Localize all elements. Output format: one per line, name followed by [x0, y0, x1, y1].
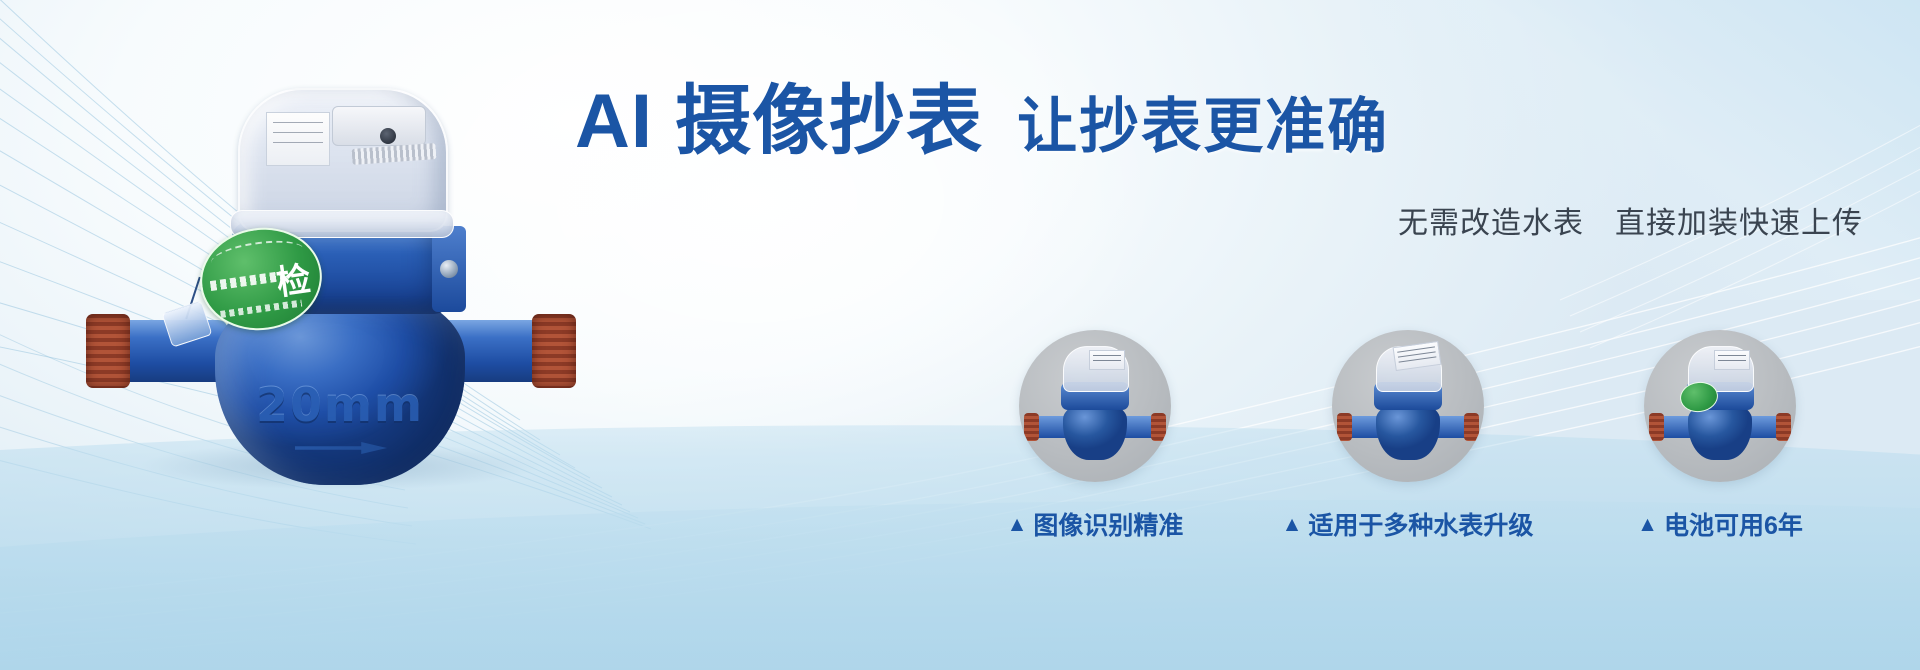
- triangle-marker-icon: ▲: [1637, 514, 1658, 535]
- feature-caption-text: 电池可用6年: [1664, 506, 1803, 542]
- triangle-marker-icon: ▲: [1282, 514, 1303, 535]
- subcopy: 无需改造水表 直接加装快速上传: [575, 198, 1885, 242]
- meter-thread-right: [532, 314, 576, 388]
- meter-size-emboss: 20mm: [230, 370, 450, 440]
- feature-caption-text: 图像识别精准: [1033, 506, 1183, 542]
- feature-item: ▲ 电池可用6年: [1580, 330, 1860, 542]
- feature-caption: ▲ 适用于多种水表升级: [1282, 506, 1534, 542]
- headline-main: AI 摄像抄表: [575, 84, 983, 160]
- copy-block: AI 摄像抄表 让抄表更准确 无需改造水表 直接加装快速上传: [575, 84, 1885, 242]
- water-meter-thumb-3: [1644, 330, 1796, 482]
- meter-thread-left: [86, 314, 130, 388]
- feature-caption: ▲ 电池可用6年: [1637, 506, 1803, 542]
- camera-lens-icon: [380, 128, 396, 144]
- headline-sub: 让抄表更准确: [1017, 97, 1389, 157]
- product-hero-banner: 20mm 检 AI 摄像抄表 让抄表更准确 无需改造水表 直接加装快速上传: [0, 0, 1920, 670]
- hero-product-image: 20mm 检: [80, 70, 600, 510]
- feature-caption: ▲ 图像识别精准: [1007, 506, 1184, 542]
- meter-screw-icon: [440, 260, 458, 278]
- feature-item: ▲ 图像识别精准: [955, 330, 1235, 542]
- feature-caption-text: 适用于多种水表升级: [1308, 506, 1533, 542]
- meter-spec-label: [266, 112, 330, 166]
- headline: AI 摄像抄表 让抄表更准确: [575, 84, 1885, 160]
- feature-item: ▲ 适用于多种水表升级: [1268, 330, 1548, 542]
- water-meter-thumb-2: [1332, 330, 1484, 482]
- inspection-sticker-char: 检: [273, 251, 313, 304]
- water-meter-thumb-1: [1019, 330, 1171, 482]
- triangle-marker-icon: ▲: [1007, 514, 1028, 535]
- feature-list: ▲ 图像识别精准 ▲ 适用于多种水表升级: [955, 330, 1860, 542]
- camera-module: [332, 106, 426, 146]
